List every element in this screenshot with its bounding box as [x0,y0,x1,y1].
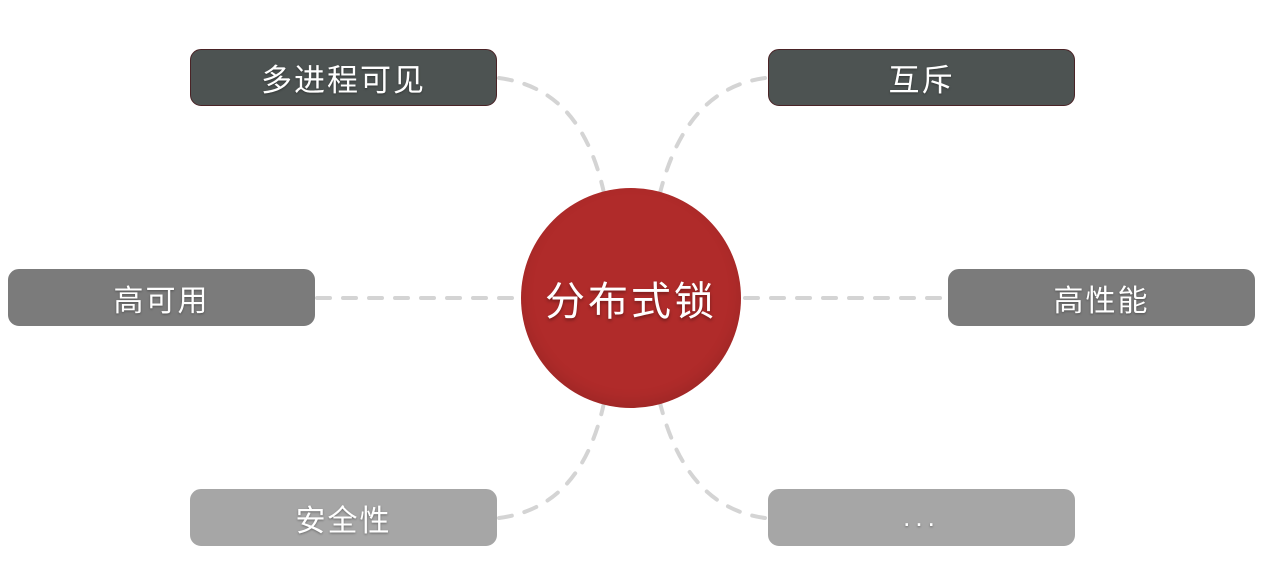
node-multi-process-visible[interactable]: 多进程可见 [190,49,497,106]
diagram-canvas: 多进程可见 互斥 高可用 高性能 安全性 ... 分布式锁 [0,0,1270,569]
node-mutual-exclusion[interactable]: 互斥 [768,49,1075,106]
connector-top-left [499,78,604,193]
node-label: 高可用 [114,276,210,320]
node-high-availability[interactable]: 高可用 [8,269,315,326]
connector-bottom-right [660,403,765,518]
node-label: 多进程可见 [261,55,426,100]
node-high-performance[interactable]: 高性能 [948,269,1255,326]
node-more[interactable]: ... [768,489,1075,546]
node-label: 安全性 [296,496,392,540]
node-label: ... [903,502,940,533]
node-safety[interactable]: 安全性 [190,489,497,546]
connector-bottom-left [499,403,604,518]
connector-top-right [660,78,765,193]
hub-circle[interactable]: 分布式锁 [521,188,741,408]
node-label: 互斥 [889,55,955,100]
hub-label: 分布式锁 [545,269,717,327]
node-label: 高性能 [1054,276,1150,320]
